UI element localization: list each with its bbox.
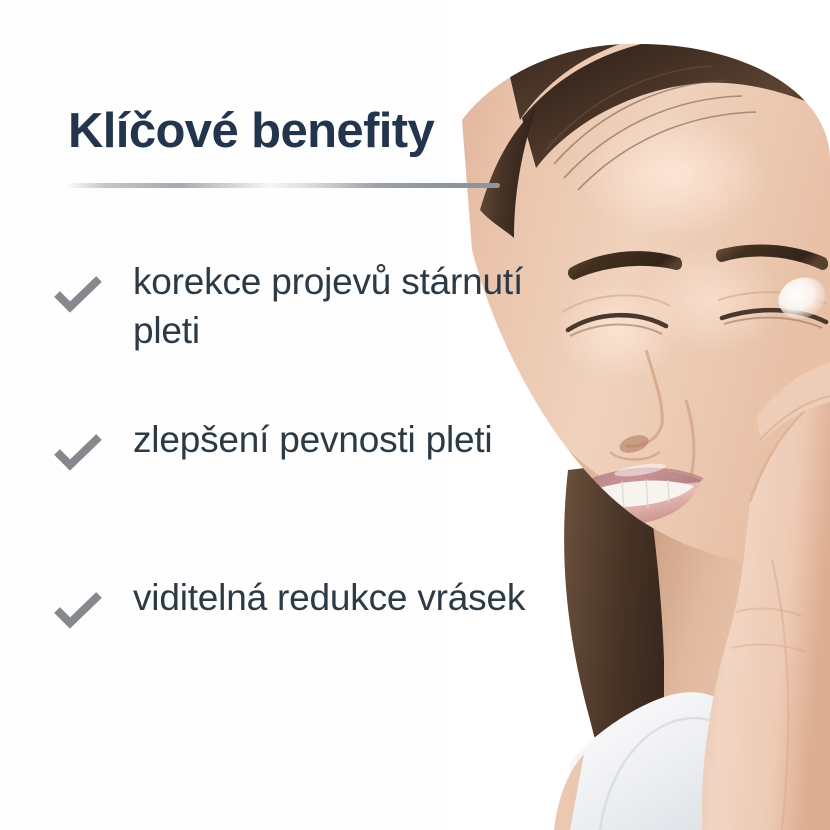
benefit-label: zlepšení pevnosti pleti [133,416,553,465]
list-item: korekce projevů stárnutí pleti [0,258,560,376]
page-title: Klíčové benefity [68,104,434,159]
check-icon [54,432,102,472]
list-item: zlepšení pevnosti pleti [0,416,560,534]
title-divider [66,183,500,188]
check-icon [54,274,102,314]
promo-card: Klíčové benefity korekce projevů stárnut… [0,0,830,830]
benefit-label: viditelná redukce vrásek [133,574,553,623]
list-item: viditelná redukce vrásek [0,574,560,692]
benefit-list: korekce projevů stárnutí pleti zlepšení … [0,258,560,692]
check-icon [54,590,102,630]
content-column: Klíčové benefity korekce projevů stárnut… [0,0,575,830]
benefit-label: korekce projevů stárnutí pleti [133,258,553,356]
